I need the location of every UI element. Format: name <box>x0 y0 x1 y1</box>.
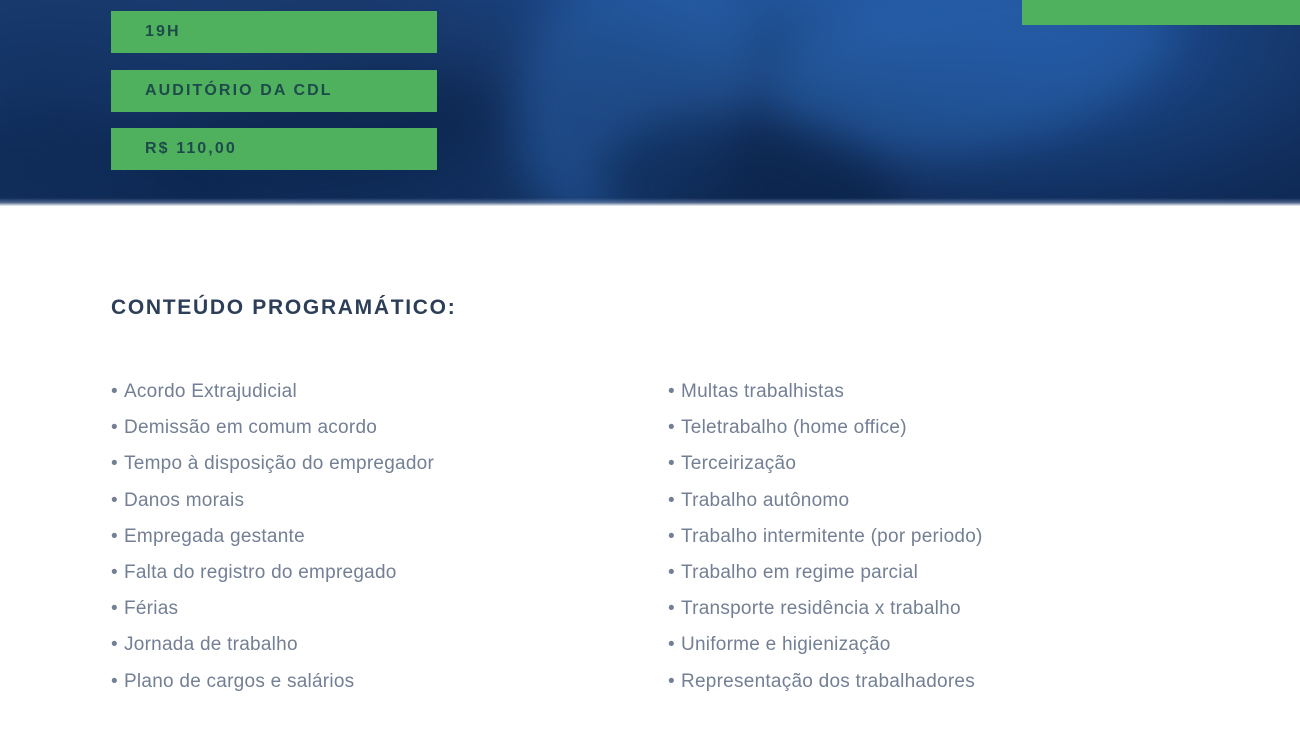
banner-bottom-fade <box>0 198 1300 206</box>
page-title: CONTEÚDO PROGRAMÁTICO: <box>111 296 456 320</box>
bullet-icon: • <box>111 555 124 591</box>
info-chip-time: 19H <box>111 11 437 53</box>
event-banner: 19H AUDITÓRIO DA CDL R$ 110,00 <box>0 0 1300 206</box>
bullet-icon: • <box>111 374 124 410</box>
list-item: •Plano de cargos e salários <box>111 664 651 700</box>
list-item-label: Transporte residência x trabalho <box>681 598 961 619</box>
list-item: •Jornada de trabalho <box>111 627 651 663</box>
info-chip-venue-label: AUDITÓRIO DA CDL <box>145 82 333 100</box>
bullet-icon: • <box>111 591 124 627</box>
bullet-icon: • <box>668 591 681 627</box>
list-item: •Uniforme e higienização <box>668 627 1228 663</box>
list-item-label: Multas trabalhistas <box>681 381 844 402</box>
bullet-icon: • <box>111 664 124 700</box>
list-item: •Falta do registro do empregado <box>111 555 651 591</box>
list-item: •Demissão em comum acordo <box>111 410 651 446</box>
bullet-icon: • <box>668 410 681 446</box>
bullet-icon: • <box>668 374 681 410</box>
bullet-icon: • <box>668 555 681 591</box>
topic-list-left: •Acordo Extrajudicial•Demissão em comum … <box>111 374 651 700</box>
bullet-icon: • <box>111 627 124 663</box>
list-item: •Representação dos trabalhadores <box>668 664 1228 700</box>
list-item: •Danos morais <box>111 483 651 519</box>
list-item-label: Plano de cargos e salários <box>124 671 354 692</box>
list-item-label: Representação dos trabalhadores <box>681 671 975 692</box>
topic-column-left: •Acordo Extrajudicial•Demissão em comum … <box>111 374 651 700</box>
bullet-icon: • <box>668 627 681 663</box>
program-content-section: CONTEÚDO PROGRAMÁTICO: •Acordo Extrajudi… <box>0 206 1300 731</box>
list-item-label: Demissão em comum acordo <box>124 417 377 438</box>
info-chip-price-label: R$ 110,00 <box>145 140 237 158</box>
bullet-icon: • <box>111 483 124 519</box>
list-item: •Trabalho intermitente (por periodo) <box>668 519 1228 555</box>
list-item-label: Falta do registro do empregado <box>124 562 397 583</box>
corner-accent-bar <box>1022 0 1300 25</box>
info-chip-price: R$ 110,00 <box>111 128 437 170</box>
topic-list-right: •Multas trabalhistas•Teletrabalho (home … <box>668 374 1228 700</box>
list-item-label: Trabalho em regime parcial <box>681 562 918 583</box>
bullet-icon: • <box>668 483 681 519</box>
list-item-label: Férias <box>124 598 178 619</box>
list-item-label: Terceirização <box>681 453 796 474</box>
bullet-icon: • <box>111 446 124 482</box>
list-item-label: Jornada de trabalho <box>124 634 298 655</box>
list-item-label: Trabalho autônomo <box>681 490 849 511</box>
list-item-label: Tempo à disposição do empregador <box>124 453 434 474</box>
list-item-label: Uniforme e higienização <box>681 634 891 655</box>
list-item: •Terceirização <box>668 446 1228 482</box>
list-item-label: Danos morais <box>124 490 244 511</box>
list-item: •Férias <box>111 591 651 627</box>
bullet-icon: • <box>668 519 681 555</box>
info-chip-venue: AUDITÓRIO DA CDL <box>111 70 437 112</box>
bullet-icon: • <box>668 446 681 482</box>
list-item: •Transporte residência x trabalho <box>668 591 1228 627</box>
list-item: •Teletrabalho (home office) <box>668 410 1228 446</box>
info-chip-time-label: 19H <box>145 23 181 41</box>
bullet-icon: • <box>111 519 124 555</box>
bullet-icon: • <box>111 410 124 446</box>
list-item-label: Empregada gestante <box>124 526 305 547</box>
list-item: •Empregada gestante <box>111 519 651 555</box>
list-item-label: Acordo Extrajudicial <box>124 381 297 402</box>
list-item: •Acordo Extrajudicial <box>111 374 651 410</box>
list-item: •Trabalho em regime parcial <box>668 555 1228 591</box>
list-item-label: Trabalho intermitente (por periodo) <box>681 526 983 547</box>
list-item: •Multas trabalhistas <box>668 374 1228 410</box>
topic-column-right: •Multas trabalhistas•Teletrabalho (home … <box>668 374 1228 700</box>
bullet-icon: • <box>668 664 681 700</box>
list-item: •Tempo à disposição do empregador <box>111 446 651 482</box>
list-item: •Trabalho autônomo <box>668 483 1228 519</box>
list-item-label: Teletrabalho (home office) <box>681 417 907 438</box>
